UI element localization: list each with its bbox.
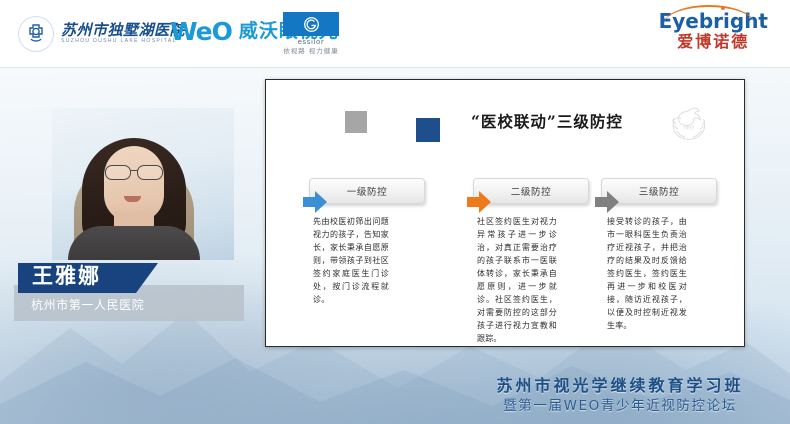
stage-description-columns: 先由校医初筛出问题视力的孩子，告知家长，家长秉承自愿原则，带领孩子到社区签约家庭… (305, 216, 717, 332)
eyebright-name-en: Eyebright (659, 11, 768, 31)
stage-label-2: 二级防控 (511, 184, 551, 198)
slide-title-group: “医校联动”三级防控 (305, 106, 623, 138)
logo-essilor: essilor 依视路 视力健康 (283, 12, 339, 56)
dove-laurel-icon: FIRST (665, 102, 713, 144)
svg-text:FIRST: FIRST (683, 125, 695, 130)
eyebright-dot-icon (721, 6, 725, 10)
essilor-eye-icon (283, 12, 339, 36)
weo-wordmark: WeO (170, 19, 232, 44)
slide-content: “医校联动”三级防控 FIRST 一级防控 (275, 88, 735, 338)
stage-label-1: 一级防控 (347, 184, 387, 198)
screen-root: 苏州市独墅湖医院 SUZHOU DUSHU LAKE HOSPITAL WeO … (0, 0, 790, 424)
eyebright-name-cn: 爱博诺德 (659, 34, 768, 50)
event-title-line-1: 苏州市视光学继续教育学习班 (470, 376, 770, 396)
stage-description-text-1: 先由校医初筛出问题视力的孩子，告知家长，家长秉承自愿原则，带领孩子到社区签约家庭… (313, 216, 389, 307)
slide-title: “医校联动”三级防控 (471, 106, 623, 138)
logo-eyebright: Eyebright 爱博诺德 (659, 11, 768, 50)
stage-description-text-2: 社区签约医生对视力异常孩子进一步诊治，对真正需要治疗的孩子联系市一医联体转诊，家… (477, 216, 557, 346)
presenter-nameplate: 杭州市第一人民医院 王雅娜 (0, 263, 244, 321)
event-title-block: 苏州市视光学继续教育学习班 暨第一届WEO青少年近视防控论坛 (470, 376, 770, 416)
presenter-face (104, 146, 164, 222)
presenter-shirt (68, 226, 200, 260)
stage-item-3[interactable]: 三级防控 (595, 178, 717, 204)
stage-label-3: 三级防控 (639, 184, 679, 198)
header-divider (0, 67, 790, 68)
hospital-name-cn: 苏州市独墅湖医院 (61, 23, 185, 38)
stage-description-3: 接受转诊的孩子，由市一眼科医生负责治疗近视孩子，并把治疗的结果及时反馈给签约医生… (607, 216, 687, 333)
event-title-line-2: 暨第一届WEO青少年近视防控论坛 (470, 398, 770, 416)
presenter-name-banner: 王雅娜 (18, 263, 136, 293)
eyebright-arc-icon (663, 5, 755, 25)
stage-description-text-3: 接受转诊的孩子，由市一眼科医生负责治疗近视孩子，并把治疗的结果及时反馈给签约医生… (607, 216, 687, 333)
logo-bar: 苏州市独墅湖医院 SUZHOU DUSHU LAKE HOSPITAL WeO … (0, 0, 790, 67)
title-blue-square-icon (416, 118, 440, 142)
stage-item-2[interactable]: 二级防控 (467, 178, 589, 204)
slide-panel[interactable]: “医校联动”三级防控 FIRST 一级防控 (265, 79, 745, 347)
glasses-icon (104, 165, 164, 178)
presenter-name: 王雅娜 (32, 266, 101, 287)
stage-description-1: 先由校医初筛出问题视力的孩子，告知家长，家长秉承自愿原则，带领孩子到社区签约家庭… (313, 216, 389, 307)
title-gray-square-icon (345, 111, 367, 133)
logo-suzhou-dushu-lake-hospital: 苏州市独墅湖医院 SUZHOU DUSHU LAKE HOSPITAL (18, 16, 185, 52)
stage-item-1[interactable]: 一级防控 (303, 178, 425, 204)
presenter-affiliation: 杭州市第一人民医院 (31, 296, 144, 313)
essilor-wordmark: essilor (283, 38, 339, 46)
stage-description-2: 社区签约医生对视力异常孩子进一步诊治，对真正需要治疗的孩子联系市一医联体转诊，家… (477, 216, 557, 346)
essilor-name-cn: 依视路 视力健康 (283, 47, 339, 56)
hospital-cross-icon (18, 16, 54, 52)
nameplate-wedge (136, 263, 158, 293)
stage-chip-row: 一级防控 二级防控 三级防控 (297, 178, 721, 208)
presenter-video[interactable] (52, 108, 234, 260)
hospital-name-en: SUZHOU DUSHU LAKE HOSPITAL (61, 39, 185, 44)
